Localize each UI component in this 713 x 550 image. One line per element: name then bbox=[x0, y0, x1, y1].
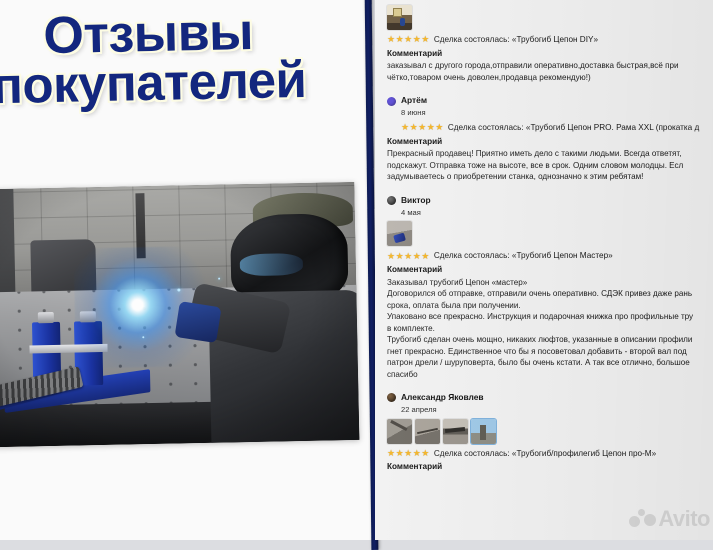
comment-line: срока, оплата была при получении. bbox=[387, 300, 713, 311]
comment-line: патрон дрели / шуруповерта, было бы очен… bbox=[387, 357, 713, 368]
reviews-pane: ★★★★★ Сделка состоялась: «Трубогиб Цепон… bbox=[375, 0, 713, 540]
comment-body: заказывал с другого города,отправили опе… bbox=[387, 60, 713, 83]
deal-line: ★★★★★ Сделка состоялась: «Трубогиб Цепон… bbox=[387, 34, 713, 46]
promo-photo-frame bbox=[0, 182, 359, 448]
comment-line: Трубогиб сделан очень мощно, никаких люф… bbox=[387, 334, 713, 345]
deal-text: Сделка состоялась: «Трубогиб/профилегиб … bbox=[434, 448, 656, 460]
star-rating-icon: ★★★★★ bbox=[387, 252, 430, 261]
review-date: 8 июня bbox=[401, 108, 713, 119]
comment-label: Комментарий bbox=[387, 264, 713, 276]
spacer bbox=[375, 380, 713, 392]
deal-line: ★★★★★ Сделка состоялась: «Трубогиб Цепон… bbox=[387, 122, 713, 134]
review-photo-thumbnail[interactable] bbox=[471, 419, 496, 444]
comment-line: чётко,товаром очень доволен,продавца рек… bbox=[387, 72, 713, 83]
review-photo-thumbnail[interactable] bbox=[387, 221, 412, 246]
avatar bbox=[387, 196, 396, 205]
deal-text: Сделка состоялась: «Трубогиб Цепон PRO. … bbox=[448, 122, 699, 134]
deal-line: ★★★★★ Сделка состоялась: «Трубогиб Цепон… bbox=[387, 250, 713, 262]
page-title: Отзывы покупателей bbox=[0, 4, 369, 114]
comment-line: заказывал с другого города,отправили опе… bbox=[387, 60, 713, 71]
review-author-row[interactable]: Виктор bbox=[387, 195, 713, 207]
comment-label: Комментарий bbox=[387, 136, 713, 148]
review-author-name: Артём bbox=[401, 95, 427, 107]
avatar bbox=[387, 393, 396, 402]
spacer bbox=[375, 83, 713, 95]
review-photo-thumbnail[interactable] bbox=[415, 419, 440, 444]
comment-line: в комплекте. bbox=[387, 323, 713, 334]
star-rating-icon: ★★★★★ bbox=[401, 123, 444, 132]
comment-line: подскажут. Отправка тоже на высоте, все … bbox=[387, 160, 713, 171]
review-date: 4 мая bbox=[401, 208, 713, 219]
comment-line: Договорился об отправке, отправили очень… bbox=[387, 288, 713, 299]
deal-line: ★★★★★ Сделка состоялась: «Трубогиб/профи… bbox=[387, 448, 713, 460]
comment-label: Комментарий bbox=[387, 48, 713, 60]
review-item[interactable]: Александр Яковлев 22 апреля ★★★★★ Сделка… bbox=[375, 392, 713, 473]
review-photo-thumbnail[interactable] bbox=[443, 419, 468, 444]
promo-card: Отзывы покупателей bbox=[0, 0, 372, 540]
deal-text: Сделка состоялась: «Трубогиб Цепон Масте… bbox=[434, 250, 613, 262]
avito-watermark-text: Avito bbox=[658, 508, 710, 530]
comment-line: гнет прекрасно. Единственное что бы я по… bbox=[387, 346, 713, 357]
comment-line: Прекрасный продавец! Приятно иметь дело … bbox=[387, 148, 713, 159]
screenshot-root: Отзывы покупателей bbox=[0, 0, 713, 540]
avatar bbox=[387, 97, 396, 106]
comment-line: задумываетесь о приобретении станка, одн… bbox=[387, 171, 713, 182]
comment-body: Прекрасный продавец! Приятно иметь дело … bbox=[387, 148, 713, 182]
review-author-row[interactable]: Александр Яковлев bbox=[387, 392, 713, 404]
reviews-list: ★★★★★ Сделка состоялась: «Трубогиб Цепон… bbox=[375, 0, 713, 474]
comment-line: Упаковано все прекрасно. Инструкция и по… bbox=[387, 311, 713, 322]
avito-logo-icon bbox=[629, 509, 655, 529]
review-thumbnails[interactable] bbox=[387, 221, 713, 246]
promo-pane: Отзывы покупателей bbox=[0, 0, 372, 540]
review-author-name: Виктор bbox=[401, 195, 431, 207]
review-item[interactable]: ★★★★★ Сделка состоялась: «Трубогиб Цепон… bbox=[375, 5, 713, 83]
review-photo-thumbnail[interactable] bbox=[387, 419, 412, 444]
review-photo-thumbnail[interactable] bbox=[387, 5, 412, 30]
star-rating-icon: ★★★★★ bbox=[387, 449, 430, 458]
headline-line-2: покупателей bbox=[0, 53, 369, 114]
review-thumbnails[interactable] bbox=[387, 5, 713, 30]
photo-vignette bbox=[0, 182, 359, 448]
star-rating-icon: ★★★★★ bbox=[387, 35, 430, 44]
comment-line: спасибо bbox=[387, 369, 713, 380]
avito-watermark: Avito bbox=[629, 508, 710, 530]
review-item[interactable]: Виктор 4 мая ★★★★★ Сделка состоялась: «Т… bbox=[375, 195, 713, 380]
review-item[interactable]: Артём 8 июня ★★★★★ Сделка состоялась: «Т… bbox=[375, 95, 713, 182]
deal-text: Сделка состоялась: «Трубогиб Цепон DIY» bbox=[434, 34, 598, 46]
comment-line: Заказывал трубогиб Цепон «мастер» bbox=[387, 277, 713, 288]
review-thumbnails[interactable] bbox=[387, 419, 713, 444]
comment-label: Комментарий bbox=[387, 461, 713, 473]
review-author-row[interactable]: Артём bbox=[387, 95, 713, 107]
review-author-name: Александр Яковлев bbox=[401, 392, 484, 404]
review-date: 22 апреля bbox=[401, 405, 713, 416]
comment-body: Заказывал трубогиб Цепон «мастер» Догово… bbox=[387, 277, 713, 380]
spacer bbox=[375, 183, 713, 195]
welding-workshop-photo bbox=[0, 182, 359, 448]
